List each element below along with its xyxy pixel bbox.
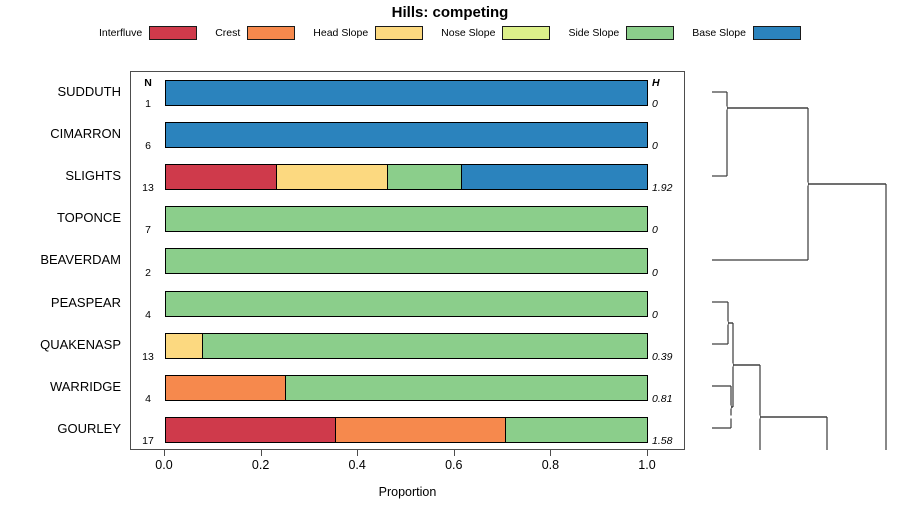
legend-label: Crest: [215, 27, 240, 39]
y-axis-label-peaspear: PEASPEAR: [0, 282, 124, 324]
y-axis-label-gourley: GOURLEY: [0, 408, 124, 450]
x-axis-tick-label: 0.2: [241, 458, 281, 472]
y-axis-label-toponce: TOPONCE: [0, 197, 124, 239]
x-axis-tick: [357, 450, 358, 456]
h-value: 0: [652, 309, 684, 321]
x-axis-title: Proportion: [130, 485, 685, 499]
x-axis-tick-label: 0.0: [144, 458, 184, 472]
legend-swatch: [149, 26, 197, 40]
legend: InterfluveCrestHead SlopeNose SlopeSide …: [0, 26, 900, 40]
dendrogram-panel: [690, 71, 900, 450]
stacked-bar[interactable]: [165, 122, 648, 148]
h-value: 0: [652, 267, 684, 279]
legend-label: Head Slope: [313, 27, 368, 39]
n-value: 6: [133, 140, 163, 152]
bar-segment[interactable]: [166, 123, 647, 147]
bar-segment[interactable]: [506, 418, 647, 442]
bar-row[interactable]: 40.81: [131, 367, 684, 409]
legend-entry[interactable]: Base Slope: [692, 26, 801, 40]
bar-segment[interactable]: [166, 334, 203, 358]
x-axis-tick: [261, 450, 262, 456]
stacked-bar-panel: N H 1060131.92702040130.3940.81171.58: [130, 71, 685, 450]
y-axis-label-quakenasp: QUAKENASP: [0, 324, 124, 366]
bar-segment[interactable]: [166, 249, 647, 273]
stacked-bar[interactable]: [165, 206, 648, 232]
dendrogram-svg: [690, 71, 900, 450]
bar-row[interactable]: 20: [131, 240, 684, 282]
bar-row[interactable]: 70: [131, 198, 684, 240]
x-axis-tick: [647, 450, 648, 456]
x-axis-tick-label: 1.0: [627, 458, 667, 472]
stacked-bar[interactable]: [165, 248, 648, 274]
legend-swatch: [375, 26, 423, 40]
legend-swatch: [502, 26, 550, 40]
h-value: 0: [652, 224, 684, 236]
stacked-bar[interactable]: [165, 375, 648, 401]
bar-segment[interactable]: [388, 165, 462, 189]
legend-label: Interfluve: [99, 27, 142, 39]
stacked-bar[interactable]: [165, 333, 648, 359]
chart-root: Hills: competing InterfluveCrestHead Slo…: [0, 0, 900, 520]
n-value: 2: [133, 267, 163, 279]
n-value: 17: [133, 435, 163, 447]
bar-row[interactable]: 10: [131, 72, 684, 114]
bar-rows: 1060131.92702040130.3940.81171.58: [131, 72, 684, 449]
legend-entry[interactable]: Nose Slope: [441, 26, 550, 40]
bar-row[interactable]: 131.92: [131, 156, 684, 198]
h-value: 1.58: [652, 435, 684, 447]
y-axis-label-beaverdam: BEAVERDAM: [0, 239, 124, 281]
n-value: 7: [133, 224, 163, 236]
y-axis-label-slights: SLIGHTS: [0, 155, 124, 197]
x-axis-tick-label: 0.8: [530, 458, 570, 472]
stacked-bar[interactable]: [165, 80, 648, 106]
bar-segment[interactable]: [166, 81, 647, 105]
legend-entry[interactable]: Crest: [215, 26, 295, 40]
h-value: 0: [652, 140, 684, 152]
bar-segment[interactable]: [462, 165, 647, 189]
y-axis-label-warridge: WARRIDGE: [0, 366, 124, 408]
legend-swatch: [626, 26, 674, 40]
n-value: 13: [133, 182, 163, 194]
n-value: 13: [133, 351, 163, 363]
x-axis-tick: [164, 450, 165, 456]
legend-entry[interactable]: Head Slope: [313, 26, 423, 40]
bar-row[interactable]: 40: [131, 283, 684, 325]
n-value: 4: [133, 309, 163, 321]
y-axis-labels: SUDDUTHCIMARRONSLIGHTSTOPONCEBEAVERDAMPE…: [0, 71, 124, 450]
legend-swatch: [247, 26, 295, 40]
x-axis-tick: [454, 450, 455, 456]
legend-entry[interactable]: Side Slope: [568, 26, 674, 40]
bar-row[interactable]: 130.39: [131, 325, 684, 367]
legend-label: Nose Slope: [441, 27, 495, 39]
h-value: 0.39: [652, 351, 684, 363]
x-axis-tick-label: 0.6: [434, 458, 474, 472]
stacked-bar[interactable]: [165, 417, 648, 443]
legend-label: Base Slope: [692, 27, 746, 39]
y-axis-label-sudduth: SUDDUTH: [0, 71, 124, 113]
bar-segment[interactable]: [277, 165, 388, 189]
legend-entry[interactable]: Interfluve: [99, 26, 197, 40]
stacked-bar[interactable]: [165, 164, 648, 190]
bar-row[interactable]: 171.58: [131, 409, 684, 451]
bar-segment[interactable]: [166, 207, 647, 231]
n-value: 1: [133, 98, 163, 110]
stacked-bar[interactable]: [165, 291, 648, 317]
x-axis-tick-label: 0.4: [337, 458, 377, 472]
bar-segment[interactable]: [166, 292, 647, 316]
bar-row[interactable]: 60: [131, 114, 684, 156]
legend-swatch: [753, 26, 801, 40]
bar-segment[interactable]: [336, 418, 506, 442]
h-value: 0: [652, 98, 684, 110]
h-value: 1.92: [652, 182, 684, 194]
legend-label: Side Slope: [568, 27, 619, 39]
y-axis-label-cimarron: CIMARRON: [0, 113, 124, 155]
bar-segment[interactable]: [166, 418, 336, 442]
bar-segment[interactable]: [166, 376, 286, 400]
bar-segment[interactable]: [166, 165, 277, 189]
n-value: 4: [133, 393, 163, 405]
bar-segment[interactable]: [203, 334, 647, 358]
x-axis: 0.00.20.40.60.81.0: [130, 450, 685, 480]
h-value: 0.81: [652, 393, 684, 405]
chart-title: Hills: competing: [0, 4, 900, 21]
x-axis-tick: [550, 450, 551, 456]
bar-segment[interactable]: [286, 376, 647, 400]
